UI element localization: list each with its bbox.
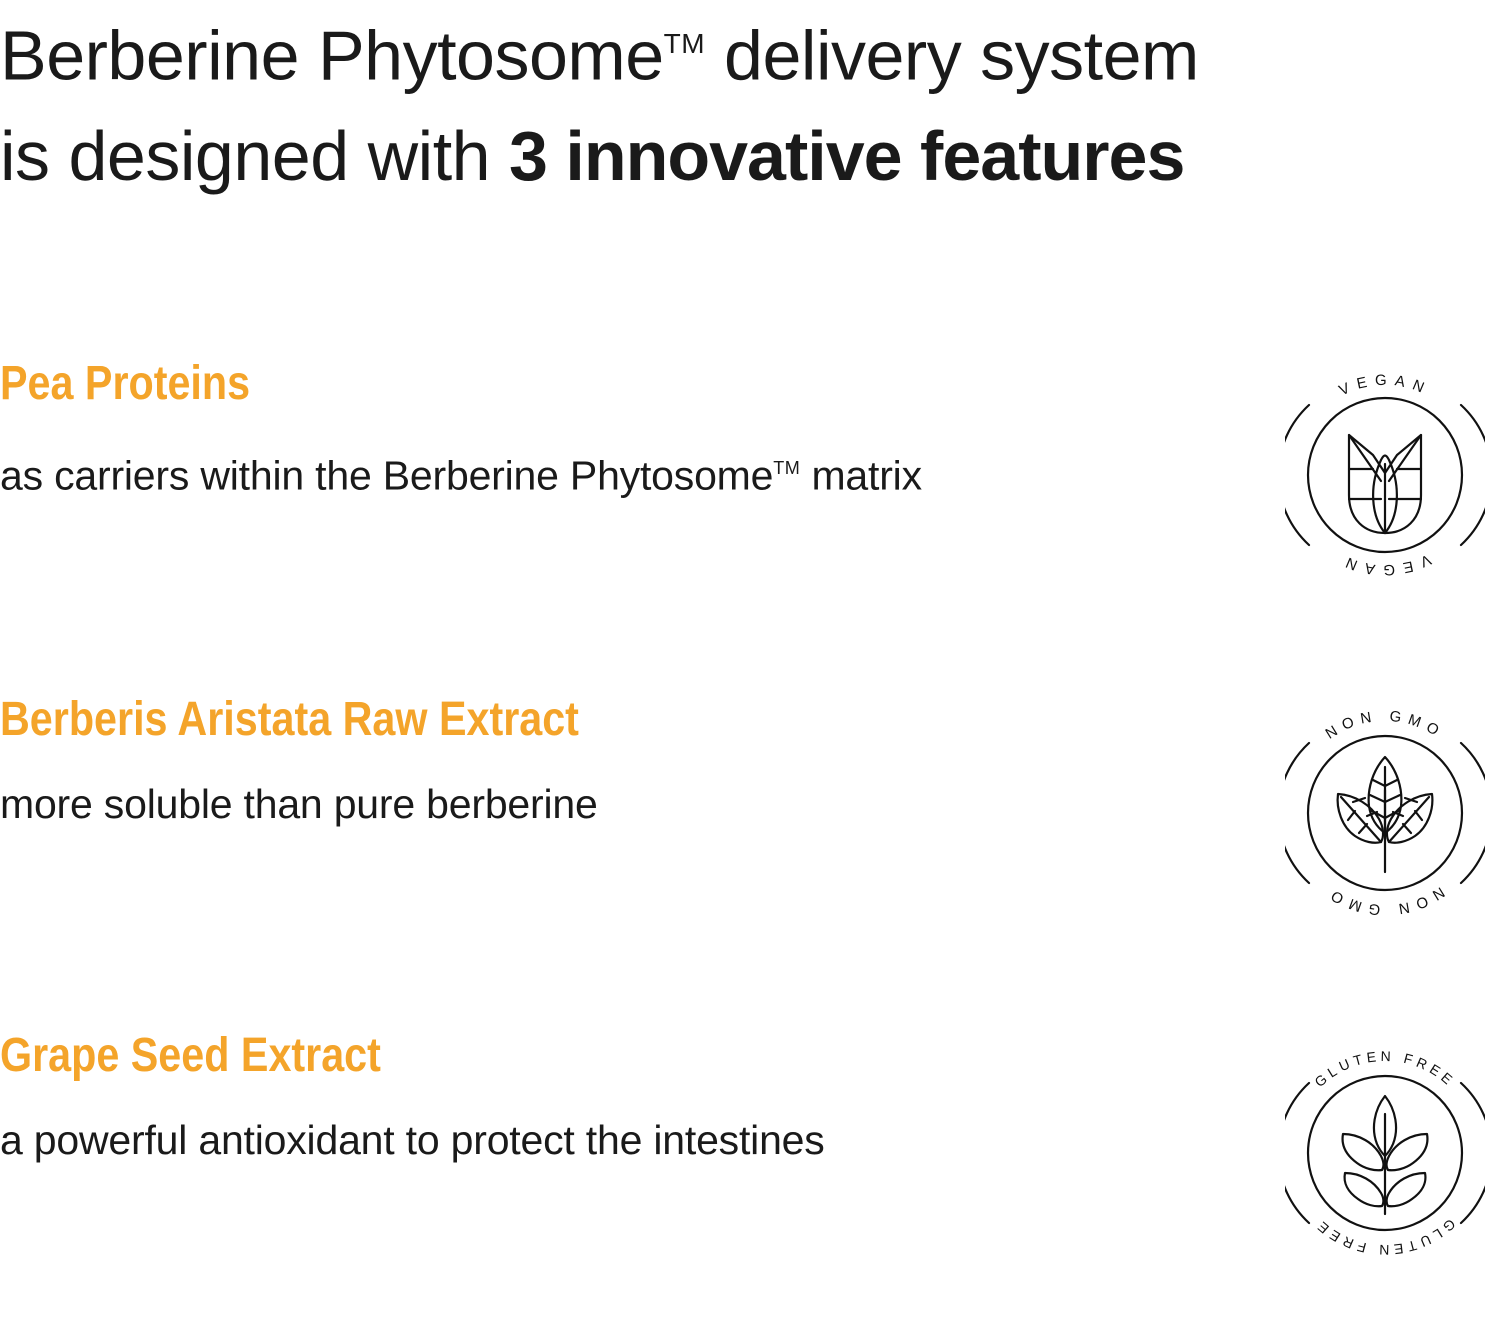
five-leaf-plant-icon [1343,1096,1428,1214]
non-gmo-badge-graphic: NON GMO NON GMO [1285,694,1485,932]
gluten-free-badge: GLUTEN FREE GLUTEN FREE [1285,1034,1485,1272]
feature-text-block: Grape Seed Extract a powerful antioxidan… [0,1030,1230,1164]
feature-description: a powerful antioxidant to protect the in… [0,1116,1230,1164]
feature-title: Grape Seed Extract [0,1030,1058,1082]
product-feature-infographic: Berberine PhytosomeTM delivery system is… [0,0,1500,1279]
headline-line-1-tail: delivery system [705,17,1199,95]
feature-text-block: Berberis Aristata Raw Extract more solub… [0,694,1230,828]
badge-bottom-textpath: VEGAN [1337,551,1434,578]
badge-top-text: VEGAN [1337,372,1434,399]
gluten-free-badge-graphic: GLUTEN FREE GLUTEN FREE [1285,1034,1485,1272]
headline-line-2-bold: 3 innovative features [509,117,1184,195]
feature-description-text: more soluble than pure berberine [0,781,598,827]
page-title: Berberine PhytosomeTM delivery system is… [0,0,1460,206]
badge-bottom-text: VEGAN [1337,551,1434,578]
badge-right-arc [1461,1083,1485,1223]
headline-line-1: Berberine PhytosomeTM delivery system [0,0,1460,106]
badge-bottom-text: NON GMO [1323,883,1448,918]
feature-description-text: a powerful antioxidant to protect the in… [0,1117,825,1163]
badge-bottom-text: GLUTEN FREE [1311,1216,1458,1258]
feature-title: Pea Proteins [0,358,1058,410]
badge-left-arc [1285,1083,1309,1223]
badge-right-arc [1461,743,1485,883]
feature-row-grape-seed-extract: Grape Seed Extract a powerful antioxidan… [0,1030,1500,1330]
vegan-badge: VEGAN VEGAN [1285,356,1485,594]
badge-bottom-textpath: NON GMO [1323,883,1448,918]
trademark-icon: TM [773,458,800,478]
badge-bottom-textpath: GLUTEN FREE [1311,1216,1458,1258]
headline-line-2: is designed with 3 innovative features [0,106,1460,206]
headline-line-2-light: is designed with [0,117,509,195]
badge-top-textpath: NON GMO [1323,708,1448,743]
headline-line-1-text: Berberine Phytosome [0,17,664,95]
badge-right-arc [1461,405,1485,545]
two-leaf-sprout-icon [1349,435,1421,533]
badge-left-arc [1285,405,1309,545]
feature-description: as carriers within the Berberine Phytoso… [0,444,1230,500]
feature-row-pea-proteins: Pea Proteins as carriers within the Berb… [0,358,1500,658]
feature-row-berberis-aristata: Berberis Aristata Raw Extract more solub… [0,694,1500,994]
feature-text-block: Pea Proteins as carriers within the Berb… [0,358,1230,500]
badge-top-textpath: VEGAN [1337,372,1434,399]
feature-description-text: as carriers within the Berberine Phytoso… [0,453,773,499]
badge-top-text: GLUTEN FREE [1311,1048,1458,1090]
badge-left-arc [1285,743,1309,883]
feature-title: Berberis Aristata Raw Extract [0,694,1058,746]
badge-top-textpath: GLUTEN FREE [1311,1048,1458,1090]
three-leaf-plant-icon [1338,757,1433,872]
vegan-badge-graphic: VEGAN VEGAN [1285,356,1485,594]
trademark-icon: TM [664,28,705,59]
feature-description: more soluble than pure berberine [0,780,1230,828]
non-gmo-badge: NON GMO NON GMO [1285,694,1485,932]
feature-description-tail: matrix [800,453,922,499]
badge-top-text: NON GMO [1323,708,1448,743]
